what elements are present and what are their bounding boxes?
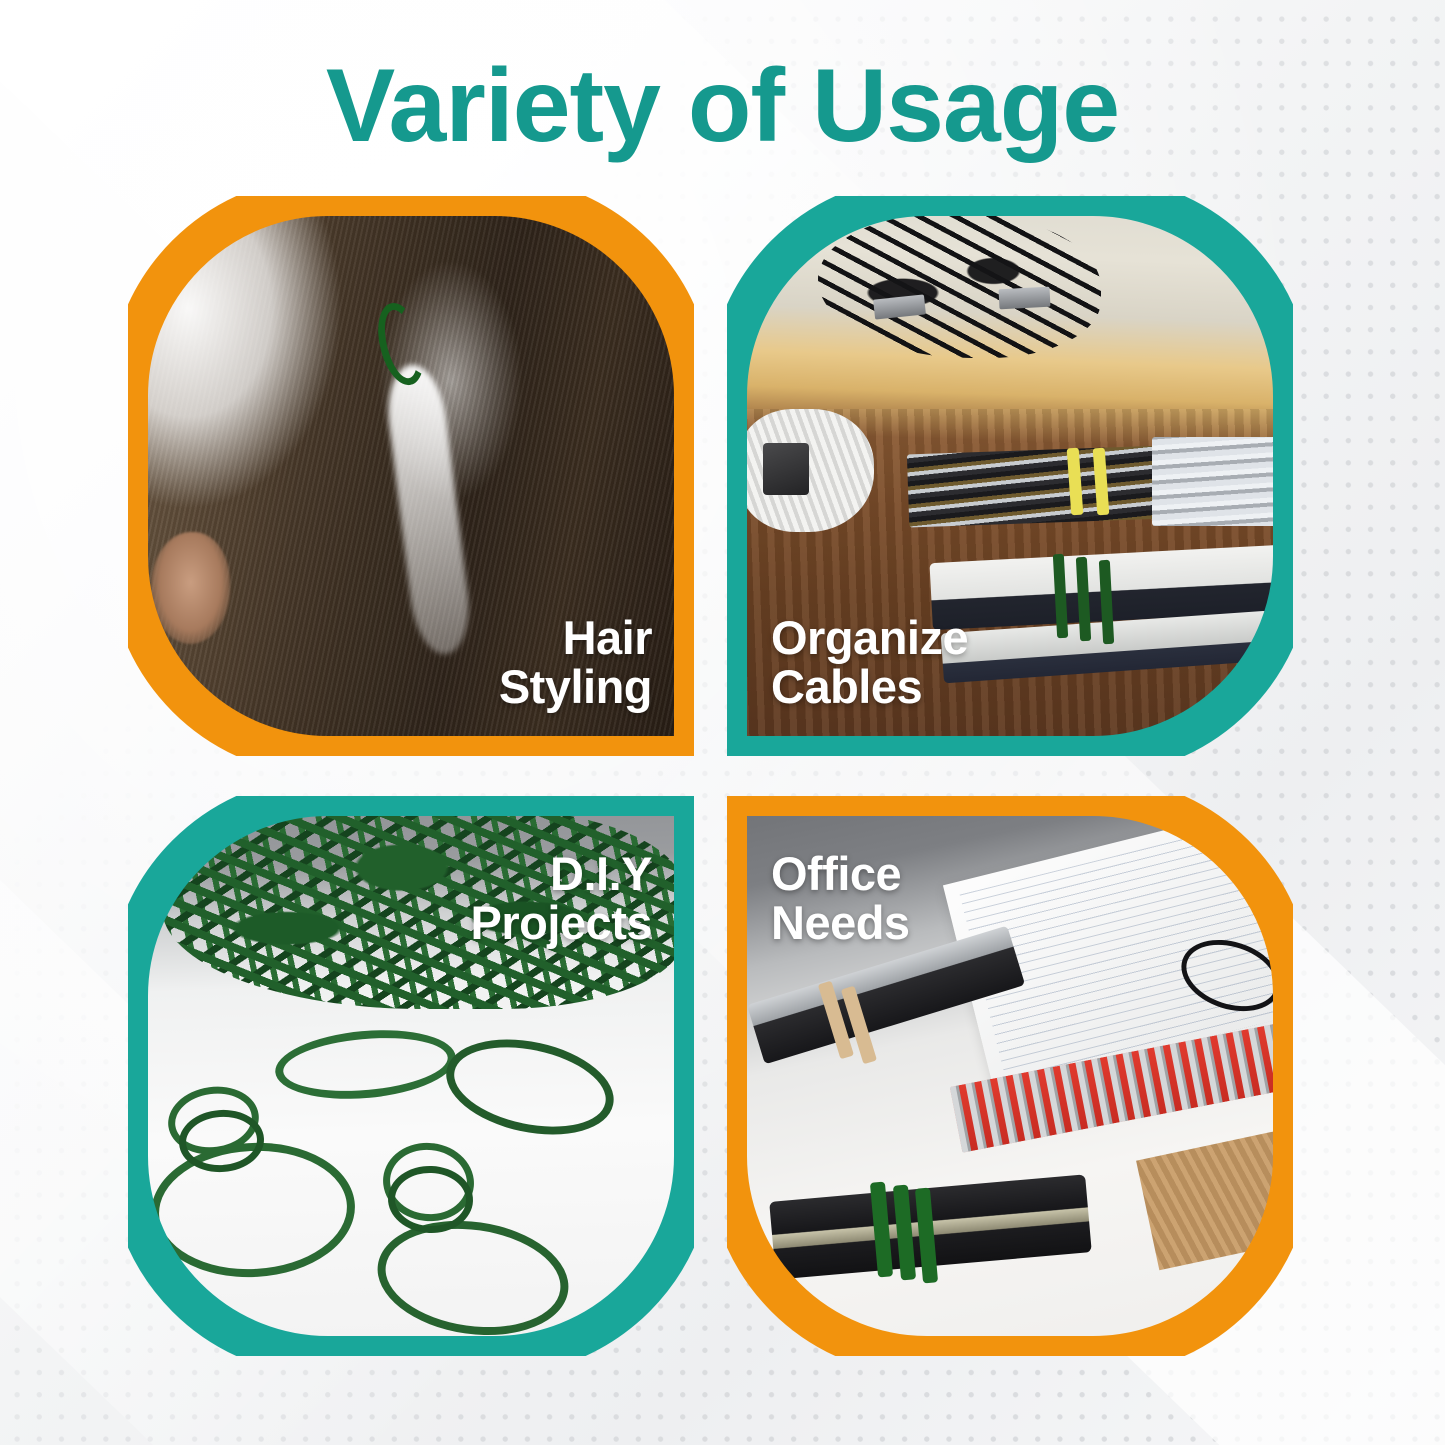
petal-label-diy-projects: D.I.Y Projects — [471, 850, 652, 948]
white-charger-cable — [738, 409, 874, 532]
petal-office-needs[interactable]: Office Needs — [727, 796, 1293, 1356]
petal-grid: Hair Styling — [128, 196, 1293, 1356]
petal-label-office-needs: Office Needs — [771, 850, 910, 948]
petal-hair-styling[interactable]: Hair Styling — [128, 196, 694, 756]
petal-label-hair-styling: Hair Styling — [499, 614, 652, 712]
petal-organize-cables[interactable]: Organize Cables — [727, 196, 1293, 756]
infographic-canvas: Variety of Usage — [0, 0, 1445, 1445]
petal-diy-projects[interactable]: D.I.Y Projects — [128, 796, 694, 1356]
petal-label-organize-cables: Organize Cables — [771, 614, 968, 712]
usb-cable-coil — [818, 213, 1101, 359]
page-title: Variety of Usage — [0, 52, 1445, 161]
